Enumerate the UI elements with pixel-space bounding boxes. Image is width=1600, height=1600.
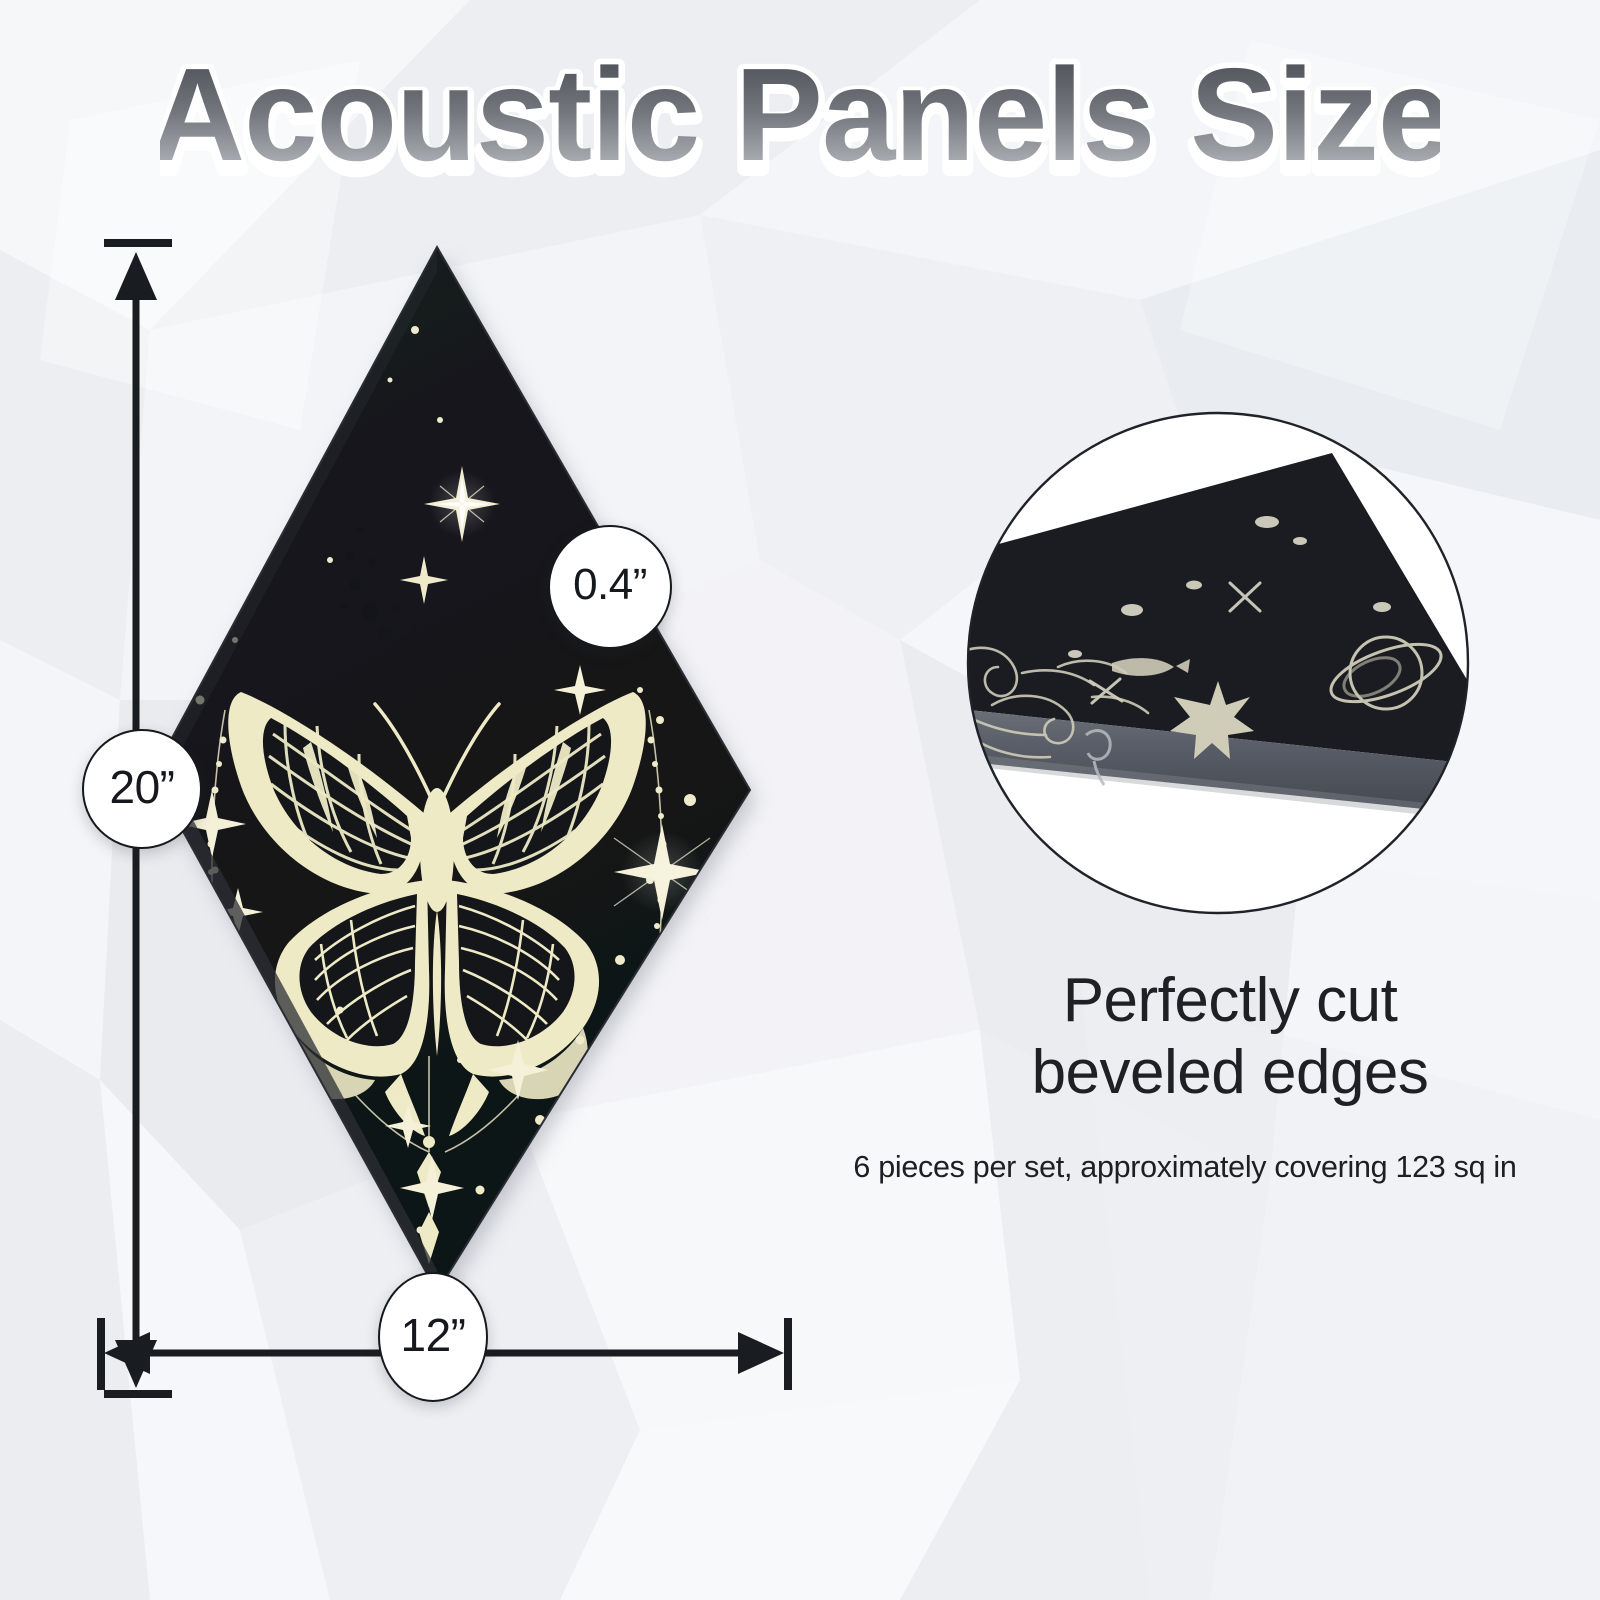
infographic-canvas: Acoustic Panels Size Acoustic Panels Siz…: [0, 0, 1600, 1600]
dimension-lines: [0, 0, 1600, 1600]
dimension-badge-height: 20”: [82, 729, 202, 849]
detail-caption: 6 pieces per set, approximately covering…: [770, 1148, 1600, 1188]
detail-headline: Perfectly cut beveled edges: [880, 965, 1580, 1109]
dimension-badge-height-label: 20”: [110, 764, 175, 810]
dimension-badge-width: 12”: [378, 1272, 488, 1402]
dimension-badge-width-label: 12”: [401, 1312, 466, 1358]
dimension-badge-thickness-label: 0.4”: [573, 563, 647, 607]
dimension-badge-thickness: 0.4”: [548, 525, 672, 649]
